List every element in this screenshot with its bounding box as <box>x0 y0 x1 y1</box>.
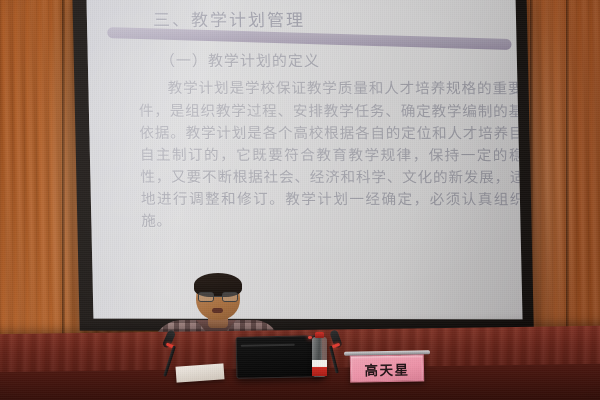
laptop-hinge <box>241 344 295 347</box>
slide-title: 三、教学计划管理 <box>153 11 499 32</box>
laptop-icon <box>236 335 323 379</box>
papers-icon <box>176 363 225 382</box>
nameplate-text: 高天星 <box>364 358 409 379</box>
nameplate: 高天星 <box>350 354 424 382</box>
presentation-slide: 三、教学计划管理 （一）教学计划的定义 教学计划是学校保证教学质量和人才培养规格… <box>86 0 522 319</box>
glasses-icon <box>197 292 239 302</box>
slide-subtitle: （一）教学计划的定义 <box>160 53 499 72</box>
bottle-label <box>312 360 327 376</box>
projection-screen: 三、教学计划管理 （一）教学计划的定义 教学计划是学校保证教学质量和人才培养规格… <box>86 0 522 319</box>
lecture-hall-photo: 三、教学计划管理 （一）教学计划的定义 教学计划是学校保证教学质量和人才培养规格… <box>0 0 600 400</box>
bottle-cap <box>315 332 324 338</box>
glasses-lens-left <box>198 292 214 302</box>
glasses-bridge <box>214 296 222 297</box>
glasses-lens-right <box>222 292 238 302</box>
projection-screen-frame: 三、教学计划管理 （一）教学计划的定义 教学计划是学校保证教学质量和人才培养规格… <box>72 0 534 331</box>
mouth <box>212 308 223 313</box>
slide-body-text: 教学计划是学校保证教学质量和人才培养规格的重要文件，是组织教学过程、安排教学任务… <box>138 78 522 234</box>
